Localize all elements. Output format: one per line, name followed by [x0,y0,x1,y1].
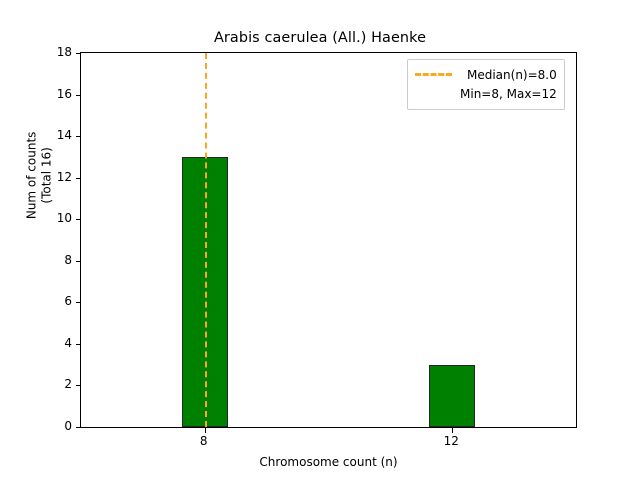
y-axis-tick [76,95,82,96]
y-axis-label: Num of counts (Total 16) [25,0,56,363]
y-axis-tick [76,178,82,179]
page-title: Arabis caerulea (All.) Haenke [0,30,640,46]
y-axis-tick-label: 8 [64,253,72,267]
y-axis-tick [76,136,82,137]
y-axis-tick [76,219,82,220]
y-axis-tick-label: 4 [64,336,72,350]
y-axis-tick-label: 18 [57,45,72,59]
x-axis-label: Chromosome count (n) [80,455,577,469]
bar-12 [429,365,475,427]
y-axis-tick [76,427,82,428]
y-axis-tick [76,302,82,303]
legend-entry: Median(n)=8.0 [415,65,557,84]
y-axis-tick [76,385,82,386]
y-axis-tick-label: 0 [64,419,72,433]
legend-entry: Min=8, Max=12 [415,84,557,103]
y-axis-label-line1: Num of counts [25,0,40,363]
x-axis-tick [205,427,206,433]
legend: Median(n)=8.0 Min=8, Max=12 [407,59,565,110]
x-axis-tick-labels: 812 [80,434,577,454]
y-axis-tick-label: 2 [64,377,72,391]
x-axis-tick-label: 8 [200,434,208,448]
y-axis-tick [76,53,82,54]
legend-entry-label: Min=8, Max=12 [460,87,557,101]
legend-entry-label: Median(n)=8.0 [460,68,557,82]
y-axis-tick-label: 16 [57,87,72,101]
y-axis-label-line2: (Total 16) [40,0,55,363]
x-axis-tick-label: 12 [444,434,459,448]
x-axis-tick [452,427,453,433]
y-axis-tick-label: 14 [57,128,72,142]
y-axis-tick-label: 6 [64,294,72,308]
y-axis-tick [76,344,82,345]
median-line [205,53,207,427]
y-axis-tick [76,261,82,262]
dashed-line-icon [415,73,452,76]
chart-figure: Arabis caerulea (All.) Haenke 0246810121… [0,0,640,480]
y-axis-tick-label: 12 [57,170,72,184]
y-axis-tick-label: 10 [57,211,72,225]
